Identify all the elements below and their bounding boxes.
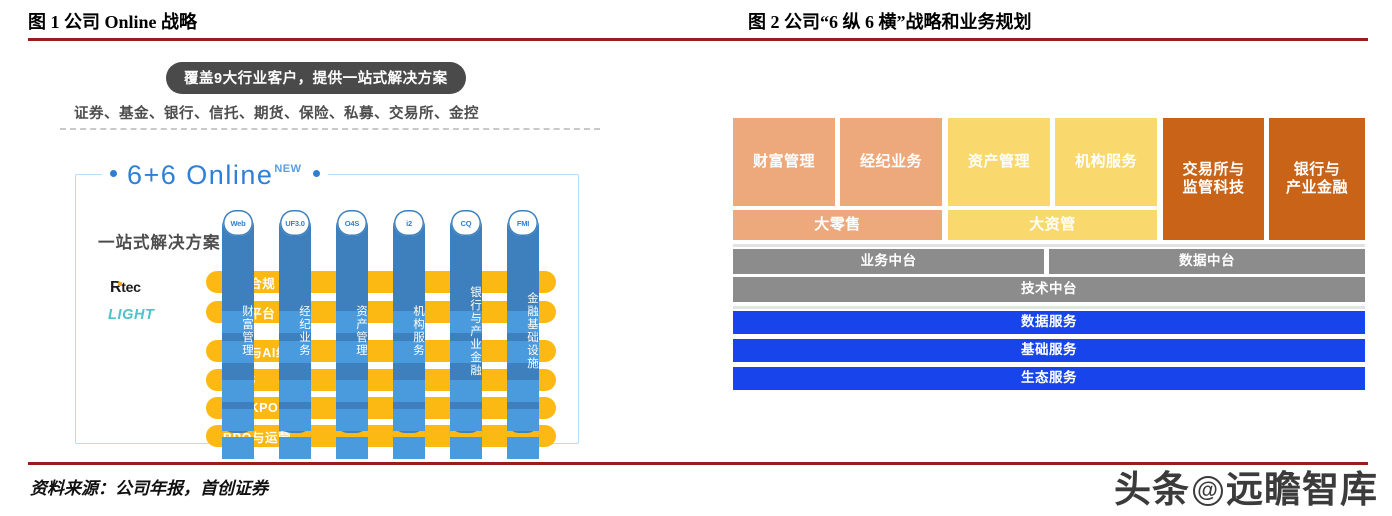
industry-list-label: 证券、基金、银行、信托、期货、保险、私募、交易所、金控 (74, 102, 479, 123)
dashed-divider (60, 128, 600, 130)
vertical-columns-group: Web 财富管理 UF3.0 经纪业务 O4S 资产管理 (76, 175, 578, 443)
box-big-asset-management[interactable]: 大资管 (948, 210, 1157, 240)
panel-heading-new-badge: NEW (274, 163, 301, 175)
vcol-label-financial-infrastructure: 金融基础设施 (507, 241, 539, 421)
vcol-badge-o4s-icon: O4S (337, 210, 367, 236)
vcol-brokerage-business[interactable]: UF3.0 经纪业务 (279, 211, 311, 433)
box-tech-platform[interactable]: 技术中台 (733, 277, 1365, 302)
figure2-title: 图 2 公司“6 纵 6 横”战略和业务规划 (748, 8, 1032, 34)
divider-above-services (733, 306, 1365, 309)
box-data-platform[interactable]: 数据中台 (1049, 249, 1365, 274)
box-business-platform[interactable]: 业务中台 (733, 249, 1044, 274)
watermark-left-text: 头条 (1114, 469, 1190, 510)
coverage-badge: 覆盖9大行业客户，提供一站式解决方案 (166, 62, 466, 94)
vcol-wealth-management[interactable]: Web 财富管理 (222, 211, 254, 433)
vcol-bank-industry-finance[interactable]: CQ 银行与产业金融 (450, 211, 482, 433)
divider-above-platform (733, 244, 1365, 247)
figure1-title: 图 1 公司 Online 战略 (28, 8, 197, 34)
box-brokerage-business[interactable]: 经纪业务 (840, 118, 942, 206)
box-wealth-management[interactable]: 财富管理 (733, 118, 835, 206)
figure2-content: 财富管理 经纪业务 资产管理 机构服务 交易所与 监管科技 银行与 产业金融 大… (733, 118, 1365, 428)
figure-titles-row: 图 1 公司 Online 战略 图 2 公司“6 纵 6 横”战略和业务规划 (0, 0, 1392, 42)
vcol-label-brokerage-business: 经纪业务 (279, 241, 311, 421)
box-big-retail[interactable]: 大零售 (733, 210, 942, 240)
box-institutional-service[interactable]: 机构服务 (1055, 118, 1157, 206)
watermark-right-text: 远瞻智库 (1226, 469, 1378, 510)
vcol-label-bank-industry-finance: 银行与产业金融 (450, 241, 482, 421)
box-data-service[interactable]: 数据服务 (733, 311, 1365, 334)
vcol-label-wealth-management: 财富管理 (222, 241, 254, 421)
box-bank-industry-finance[interactable]: 银行与 产业金融 (1269, 118, 1365, 240)
watermark-at-icon: @ (1193, 476, 1223, 506)
watermark: 头条@远瞻智库 (1114, 459, 1378, 513)
vcol-badge-fmi-icon: FMI (508, 210, 538, 236)
vcol-financial-infrastructure[interactable]: FMI 金融基础设施 (507, 211, 539, 433)
vcol-asset-management[interactable]: O4S 资产管理 (336, 211, 368, 433)
box-basic-service[interactable]: 基础服务 (733, 339, 1365, 362)
vcol-label-asset-management: 资产管理 (336, 241, 368, 421)
vcol-badge-i2-icon: i2 (394, 210, 424, 236)
vcol-badge-cq-icon: CQ (451, 210, 481, 236)
vcol-label-institutional-service: 机构服务 (393, 241, 425, 421)
title-divider-rule (28, 38, 1368, 41)
box-exchange-regtech[interactable]: 交易所与 监管科技 (1163, 118, 1264, 240)
box-asset-management[interactable]: 资产管理 (948, 118, 1050, 206)
vcol-badge-web-icon: Web (223, 210, 253, 236)
figure1-content: 覆盖9大行业客户，提供一站式解决方案 证券、基金、银行、信托、期货、保险、私募、… (26, 52, 616, 452)
online-strategy-panel: 6+6 Online NEW 一站式解决方案 Rtec LIGHT 风险合规 技… (75, 174, 579, 444)
vcol-badge-uf3-icon: UF3.0 (280, 210, 310, 236)
vcol-institutional-service[interactable]: i2 机构服务 (393, 211, 425, 433)
box-ecosystem-service[interactable]: 生态服务 (733, 367, 1365, 390)
source-note: 资料来源：公司年报，首创证券 (30, 474, 268, 499)
